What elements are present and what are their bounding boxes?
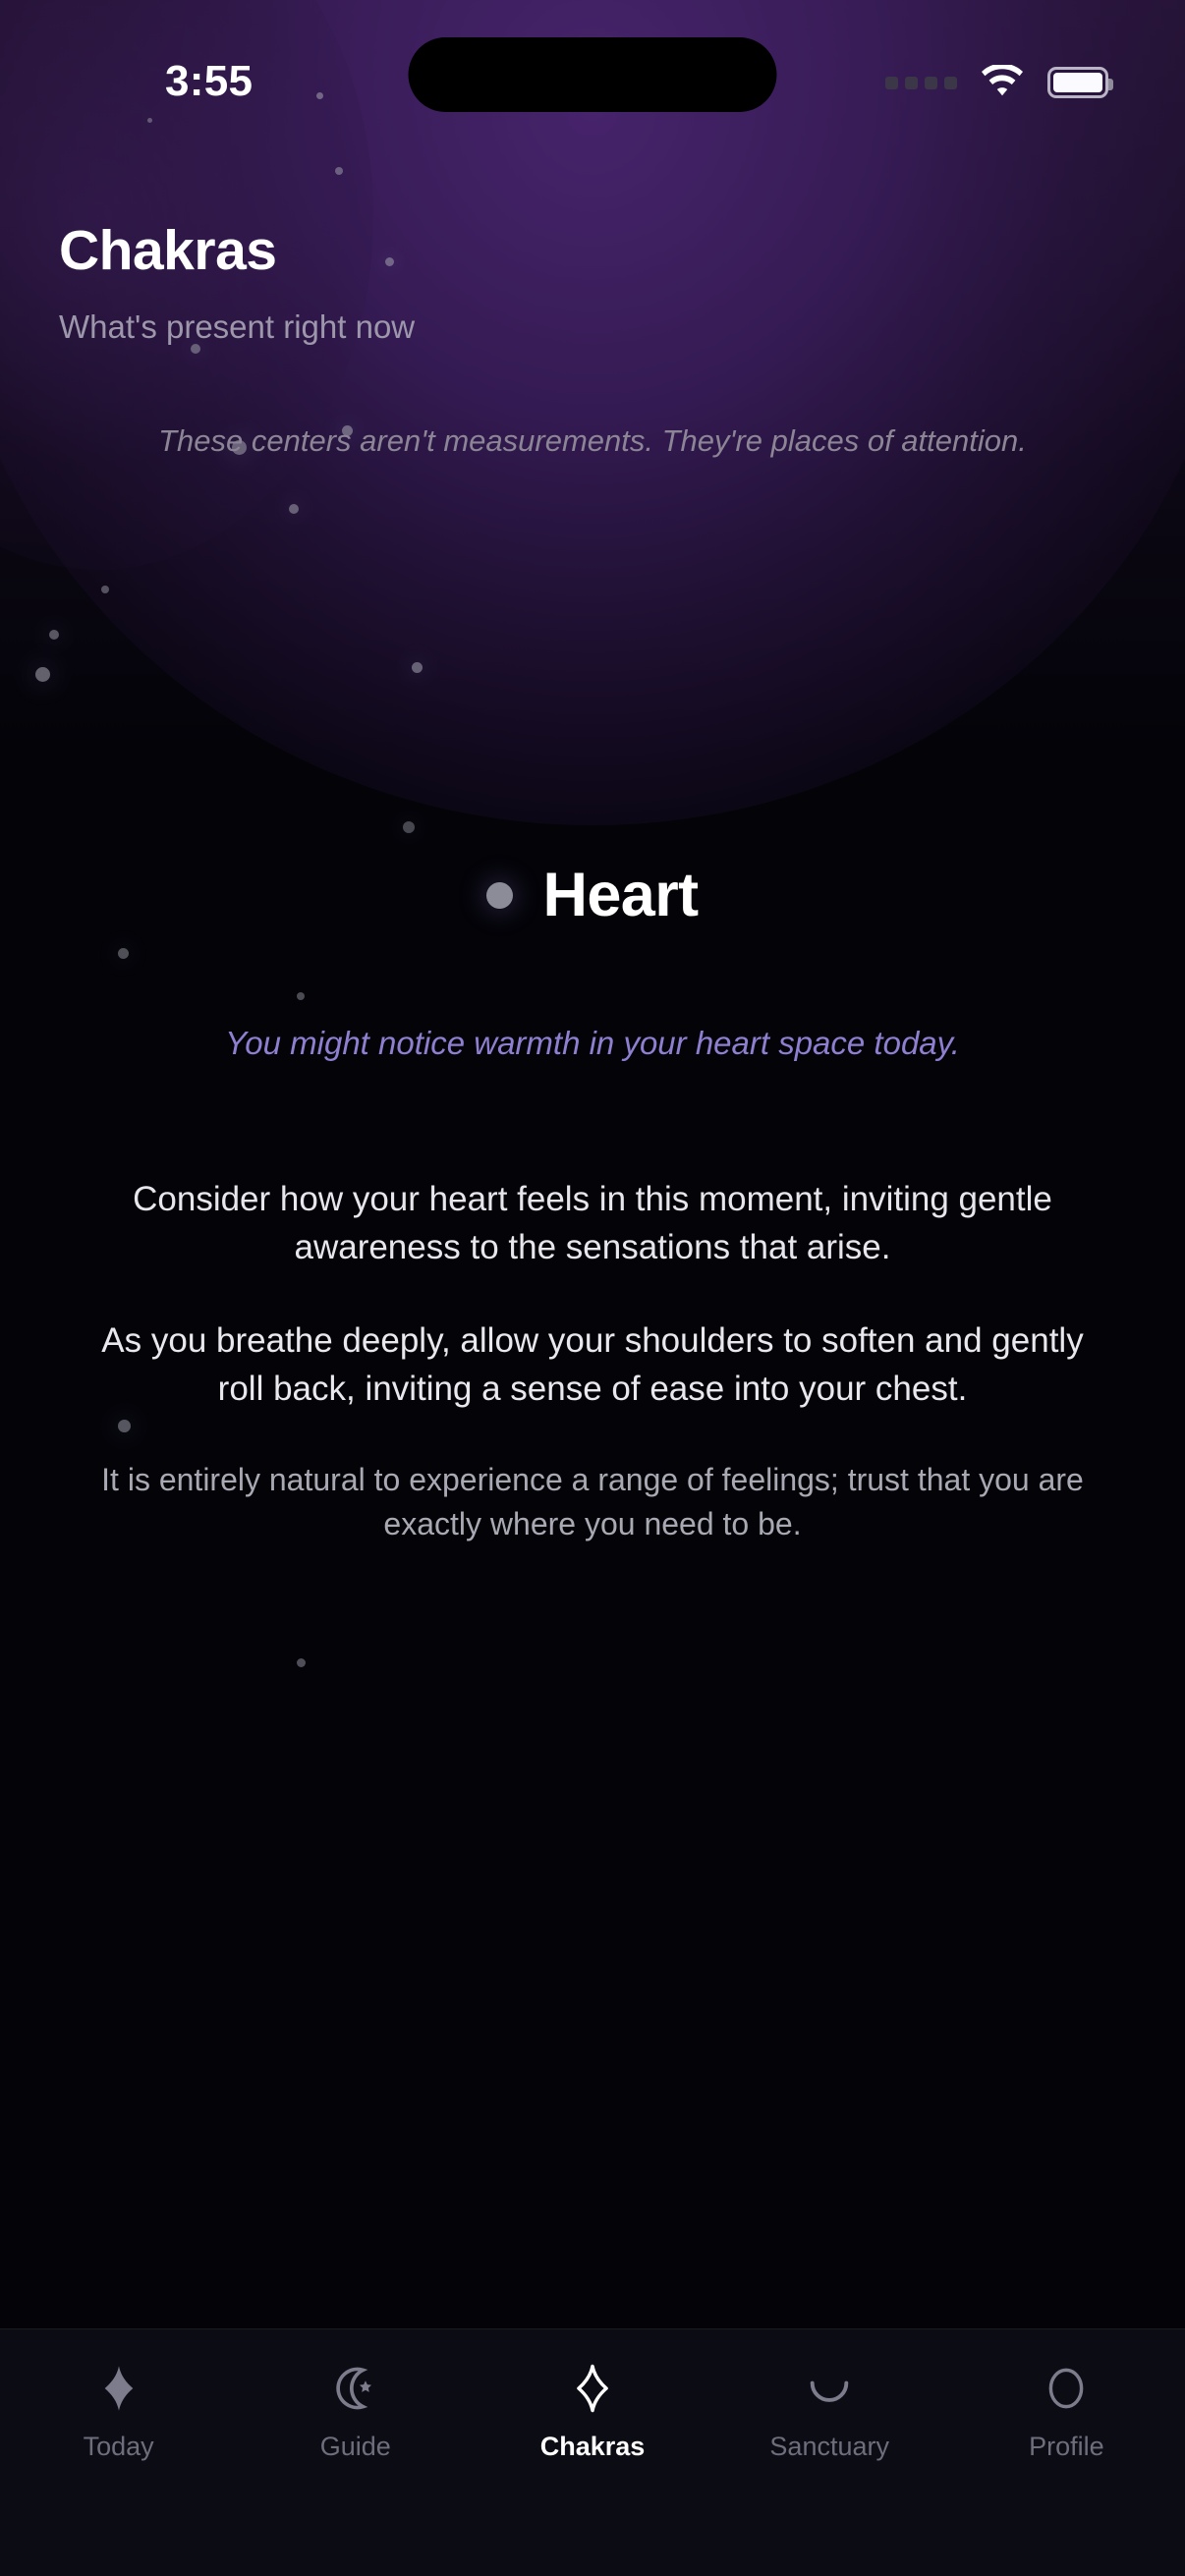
- chakra-paragraph: It is entirely natural to experience a r…: [101, 1458, 1084, 1546]
- tab-label: Today: [84, 2432, 154, 2462]
- circle-outline-icon: [1041, 2363, 1092, 2414]
- status-bar: 3:55: [0, 0, 1185, 145]
- star-dot: [297, 1658, 306, 1667]
- tab-label: Sanctuary: [769, 2432, 889, 2462]
- chakra-paragraph: As you breathe deeply, allow your should…: [79, 1316, 1106, 1413]
- intro-note: These centers aren't measurements. They'…: [98, 420, 1087, 462]
- dynamic-island: [409, 37, 777, 112]
- tab-profile[interactable]: Profile: [948, 2363, 1185, 2462]
- sparkle-filled-icon: [93, 2363, 144, 2414]
- tab-chakras[interactable]: Chakras: [474, 2363, 710, 2462]
- chakra-name: Heart: [542, 865, 698, 926]
- star-dot: [412, 662, 423, 673]
- tab-label: Guide: [320, 2432, 391, 2462]
- chakra-dot-icon: [486, 882, 513, 909]
- bowl-arc-icon: [804, 2363, 855, 2414]
- status-bar-time: 3:55: [165, 57, 253, 106]
- tab-today[interactable]: Today: [0, 2363, 237, 2462]
- star-dot: [49, 630, 59, 640]
- status-bar-indicators: [885, 65, 1108, 100]
- chakra-body-copy: Consider how your heart feels in this mo…: [0, 1175, 1185, 1546]
- page-title: Chakras: [59, 218, 276, 283]
- star-dot: [35, 667, 50, 682]
- star-dot: [101, 586, 109, 593]
- star-dot: [289, 504, 299, 514]
- bottom-tab-bar: Today Guide Chakras Sanctuary P: [0, 2328, 1185, 2576]
- tab-guide[interactable]: Guide: [237, 2363, 474, 2462]
- wifi-icon: [979, 65, 1026, 100]
- page-subtitle: What's present right now: [59, 308, 415, 346]
- tab-sanctuary[interactable]: Sanctuary: [711, 2363, 948, 2462]
- star-dot: [118, 948, 129, 959]
- star-dot: [385, 257, 394, 266]
- crescent-star-icon: [330, 2363, 381, 2414]
- star-dot: [403, 821, 415, 833]
- signal-dots-icon: [885, 77, 957, 89]
- sparkle-outline-icon: [567, 2363, 618, 2414]
- star-dot: [335, 167, 343, 175]
- chakra-cue: You might notice warmth in your heart sp…: [138, 1022, 1047, 1065]
- battery-full-icon: [1047, 67, 1108, 98]
- star-dot: [297, 992, 305, 1000]
- chakra-paragraph: Consider how your heart feels in this mo…: [96, 1175, 1089, 1271]
- chakra-heading: Heart: [0, 865, 1185, 926]
- tab-label: Profile: [1029, 2432, 1104, 2462]
- app-screen: 3:55 Chakras What's present right now Th…: [0, 0, 1185, 2576]
- tab-label: Chakras: [540, 2432, 646, 2462]
